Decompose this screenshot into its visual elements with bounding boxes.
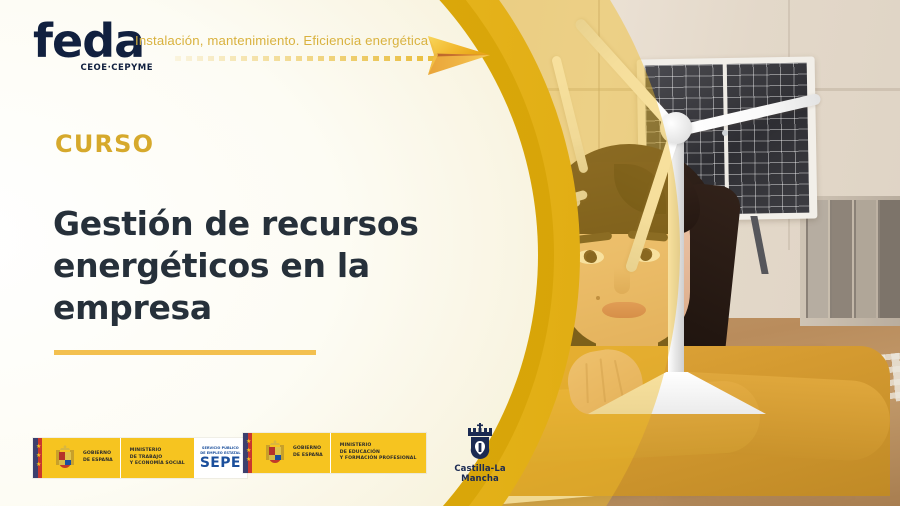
eu-stars-icon: ★★★ (246, 440, 250, 462)
spain-coat-of-arms-icon (264, 440, 286, 466)
gobierno-label: GOBIERNO DE ESPAÑA (83, 451, 113, 464)
dashed-trail-icon (175, 56, 445, 61)
feda-logo[interactable]: feda CEOE·CEPYME (33, 18, 153, 80)
paper-plane-icon (424, 28, 492, 82)
footer-logos: ★★★ (0, 416, 900, 506)
gobierno-label: GOBIERNO DE ESPAÑA (293, 446, 323, 459)
ministerio-label: MINISTERIO DE EDUCACIÓN Y FORMACIÓN PROF… (340, 443, 417, 463)
eu-flag-stripe-icon: ★★★ (33, 438, 47, 478)
gobierno-espana-block: GOBIERNO DE ESPAÑA (47, 438, 120, 478)
ministerio-trabajo-block: MINISTERIO DE TRABAJO Y ECONOMÍA SOCIAL (121, 438, 194, 478)
tagline: Instalación, mantenimiento. Eficiencia e… (135, 33, 428, 48)
eyebrow-label: CURSO (55, 130, 154, 158)
ministerio-label: MINISTERIO DE TRABAJO Y ECONOMÍA SOCIAL (130, 448, 185, 468)
course-banner: feda CEOE·CEPYME Instalación, mantenimie… (0, 0, 900, 506)
eu-stars-icon: ★★★ (36, 445, 40, 467)
sepe-agency-label: SERVICIO PÚBLICO DE EMPLEO ESTATAL (200, 446, 240, 455)
gobierno-espana-block: GOBIERNO DE ESPAÑA (257, 433, 330, 473)
feda-wordmark: feda (33, 18, 144, 64)
sepe-acronym: SEPE (200, 456, 241, 470)
logo-castilla-la-mancha[interactable]: Castilla-La Mancha (434, 422, 526, 484)
logo-ministerio-educacion[interactable]: ★★★ (243, 433, 426, 473)
sepe-block: SERVICIO PÚBLICO DE EMPLEO ESTATAL SEPE (194, 438, 247, 478)
castle-shield-icon (463, 422, 497, 462)
title-underline (54, 350, 316, 355)
ministerio-educacion-block: MINISTERIO DE EDUCACIÓN Y FORMACIÓN PROF… (331, 433, 426, 473)
castilla-la-mancha-label: Castilla-La Mancha (434, 464, 526, 484)
feda-sublabel: CEOE·CEPYME (81, 63, 154, 73)
spain-coat-of-arms-icon (54, 445, 76, 471)
logo-ministerio-trabajo-sepe[interactable]: ★★★ (33, 438, 247, 478)
eu-flag-stripe-icon: ★★★ (243, 433, 257, 473)
page-title: Gestión de recursos energéticos en la em… (53, 203, 483, 330)
